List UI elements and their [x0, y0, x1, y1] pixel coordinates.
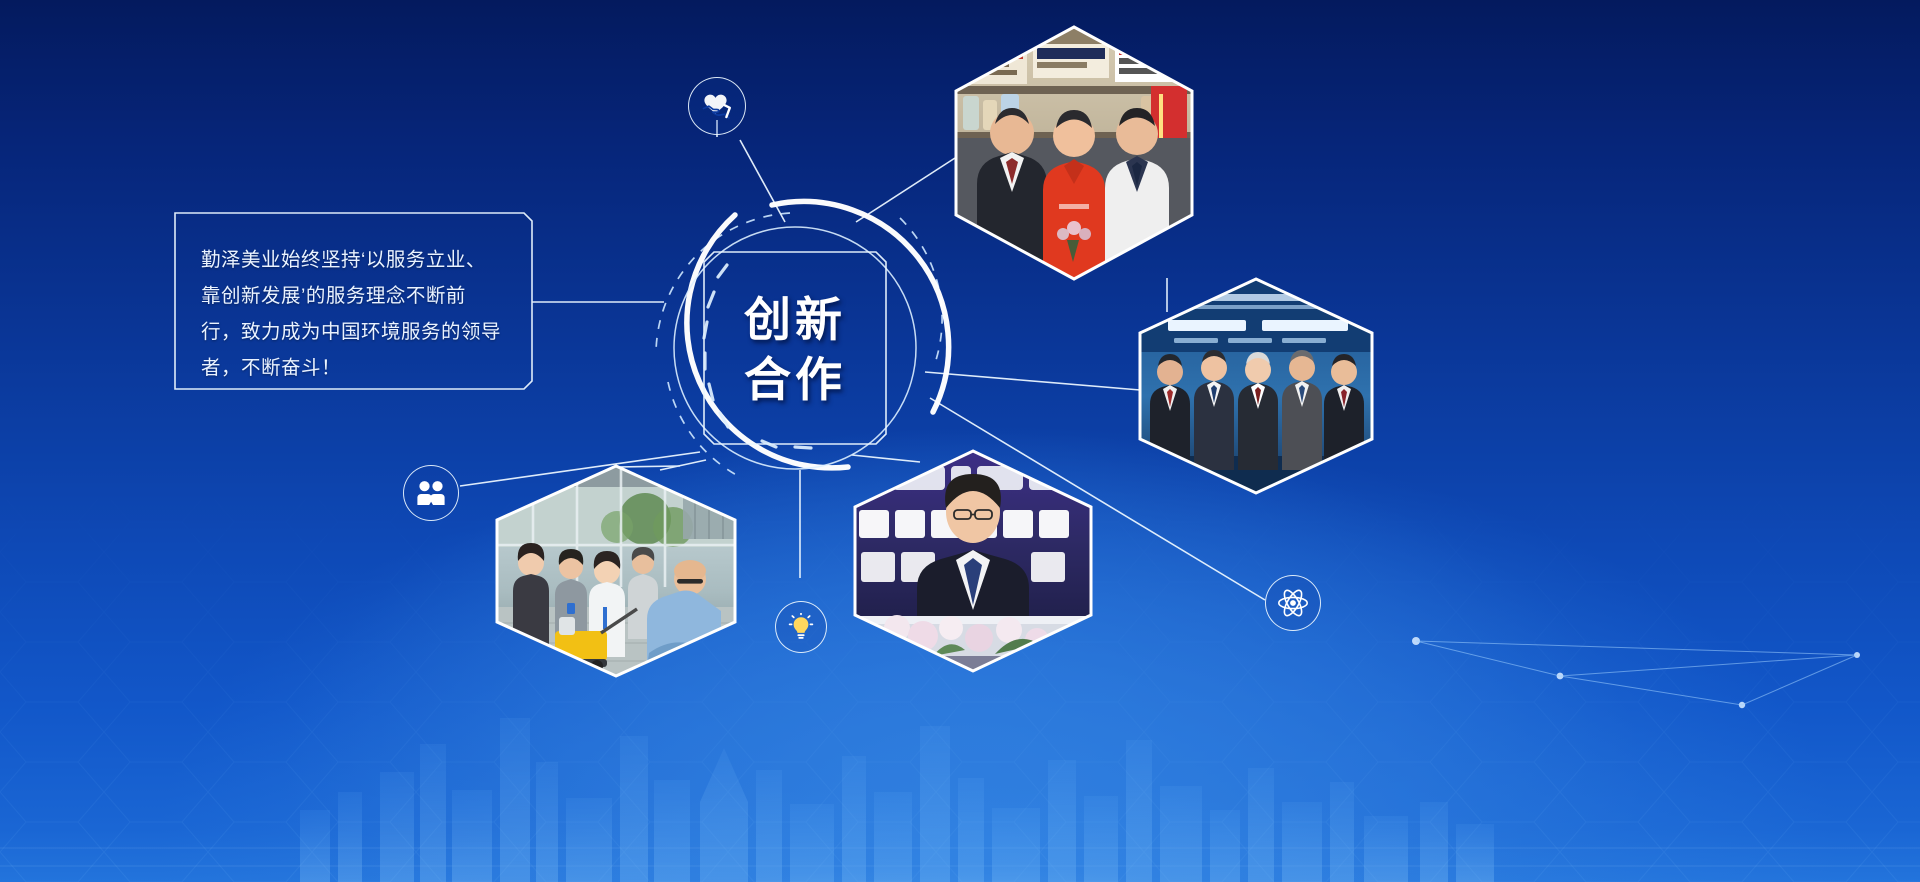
handshake-icon	[700, 91, 734, 121]
floor-glow	[0, 702, 1920, 882]
handshake-icon-node[interactable]	[688, 77, 746, 135]
hub-title: 创新 合作	[645, 200, 945, 500]
banner-stage: 勤泽美业始终坚持‘以服务立业、 靠创新发展’的服务理念不断前 行，致力成为中国环…	[0, 0, 1920, 882]
city-skyline-silhouette	[0, 652, 1920, 882]
quote-text: 勤泽美业始终坚持‘以服务立业、 靠创新发展’的服务理念不断前 行，致力成为中国环…	[201, 242, 514, 386]
lightbulb-idea-icon-node[interactable]	[775, 601, 827, 653]
quote-line-4: 者，不断奋斗！	[201, 350, 514, 386]
photo-shop-team-art	[955, 28, 1193, 278]
hub-title-line2: 合作	[744, 350, 846, 410]
photo-award-stage[interactable]	[1140, 280, 1372, 492]
lightbulb-idea-icon	[788, 613, 814, 641]
atom-technology-icon	[1277, 587, 1309, 619]
quote-line-2: 靠创新发展’的服务理念不断前	[201, 278, 514, 314]
atom-technology-icon-node[interactable]	[1265, 575, 1321, 631]
hub-title-line1: 创新	[744, 290, 846, 350]
quote-line-3: 行，致力成为中国环境服务的领导	[201, 314, 514, 350]
quote-panel: 勤泽美业始终坚持‘以服务立业、 靠创新发展’的服务理念不断前 行，致力成为中国环…	[175, 212, 532, 389]
photo-shop-team[interactable]	[955, 28, 1193, 278]
center-hub: 创新 合作	[645, 200, 945, 500]
photo-award-stage-art	[1140, 280, 1372, 492]
people-group-icon-node[interactable]	[403, 465, 459, 521]
people-group-icon	[416, 480, 446, 506]
quote-line-1: 勤泽美业始终坚持‘以服务立业、	[201, 242, 514, 278]
